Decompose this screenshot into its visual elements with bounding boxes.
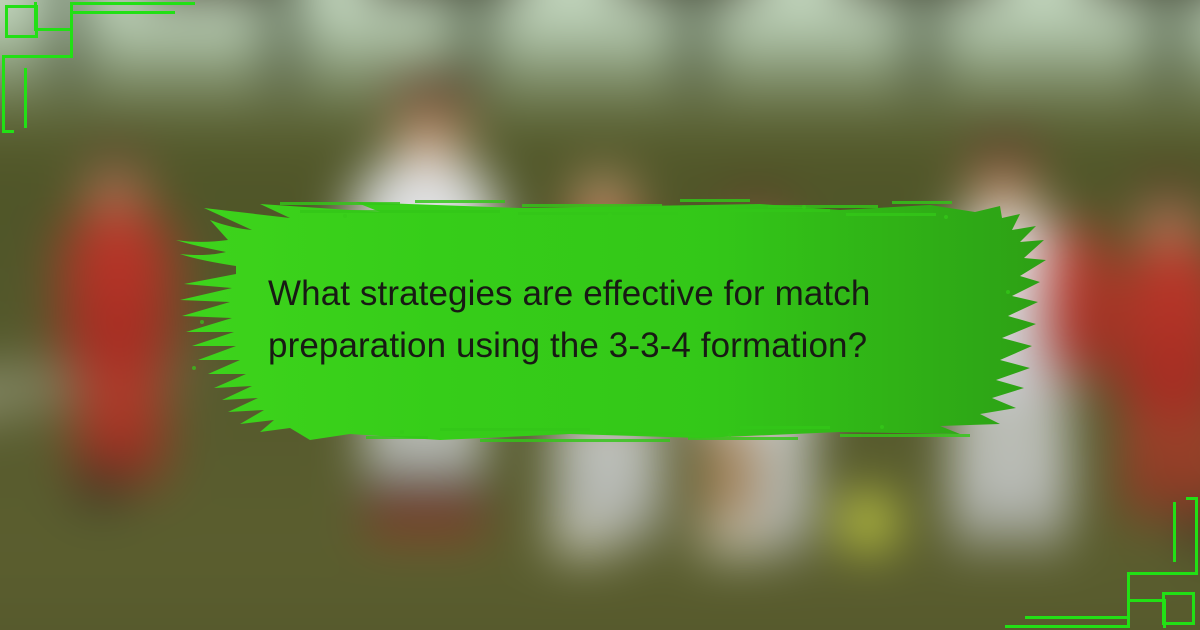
headline-banner: What strategies are effective for match … (140, 196, 1050, 446)
player-shoe (368, 506, 422, 532)
player-torso (1115, 240, 1200, 420)
player-shoe (700, 522, 766, 552)
fence-post (55, 0, 81, 95)
player-leg (78, 365, 118, 485)
player-leg (1130, 408, 1170, 518)
share-card-canvas: What strategies are effective for match … (0, 0, 1200, 630)
player-shoe (76, 475, 126, 501)
fence-post (680, 0, 706, 95)
player-hair (390, 75, 470, 111)
player-shoe (428, 506, 482, 532)
player-shoe (552, 522, 614, 552)
football (840, 495, 896, 549)
fence-post (460, 0, 486, 95)
fence-post (270, 0, 296, 95)
player-hair (1136, 178, 1200, 208)
player-hair (88, 148, 144, 174)
headline-text: What strategies are effective for match … (268, 268, 968, 372)
fence-post (910, 0, 936, 95)
player-sleeve (1048, 225, 1108, 375)
fence-post (1155, 0, 1181, 95)
stadium-wall (0, 0, 1200, 130)
player-hair (965, 135, 1043, 171)
